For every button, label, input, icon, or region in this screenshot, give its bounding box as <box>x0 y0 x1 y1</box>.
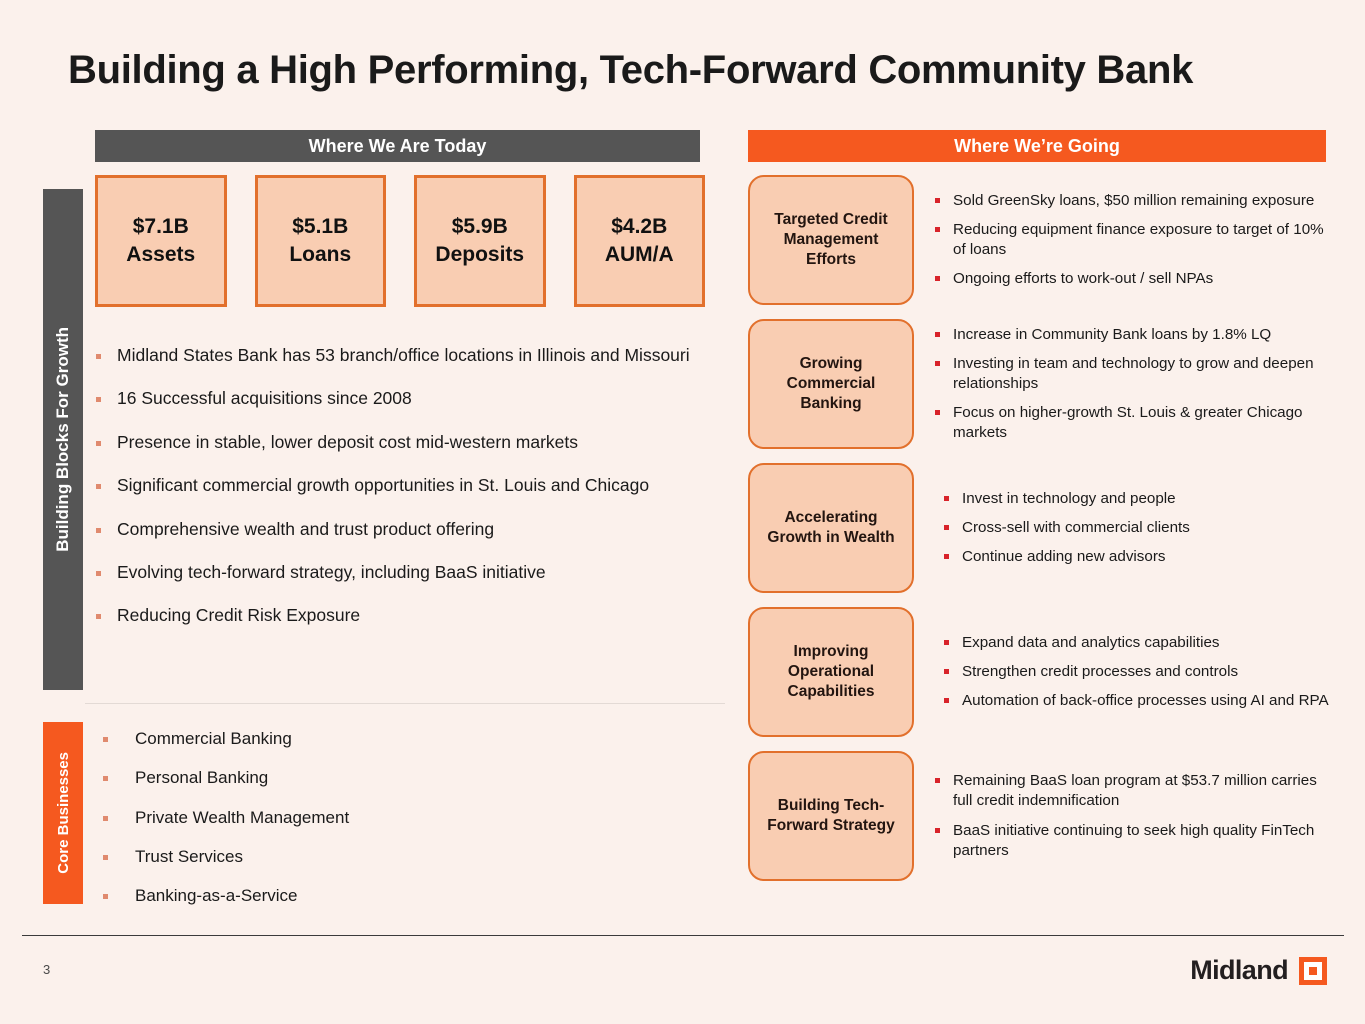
bullet-dot-icon <box>944 525 949 530</box>
list-item-label: Significant commercial growth opportunit… <box>117 475 649 497</box>
metric-value: $7.1B <box>133 213 189 241</box>
bullet-dot-icon <box>103 894 108 899</box>
logo-inner-square <box>1309 967 1317 975</box>
list-item-label: Focus on higher-growth St. Louis & great… <box>953 403 1338 443</box>
list-item: Private Wealth Management <box>103 807 583 828</box>
list-item: Remaining BaaS loan program at $53.7 mil… <box>935 771 1338 811</box>
column-header-where-were-going: Where We’re Going <box>748 130 1326 162</box>
list-item-label: Personal Banking <box>135 767 268 788</box>
list-item: Significant commercial growth opportunit… <box>96 475 736 497</box>
bullet-dot-icon <box>935 198 940 203</box>
list-item-label: Investing in team and technology to grow… <box>953 354 1338 394</box>
metric-label: AUM/A <box>605 241 674 269</box>
list-item: Sold GreenSky loans, $50 million remaini… <box>935 191 1338 211</box>
column-header-where-we-are-today: Where We Are Today <box>95 130 700 162</box>
bullet-dot-icon <box>935 227 940 232</box>
metric-label: Deposits <box>435 241 524 269</box>
left-bullet-list: Midland States Bank has 53 branch/office… <box>96 345 736 649</box>
initiative-bullet-list: Invest in technology and people Cross-se… <box>914 463 1338 593</box>
list-item-label: Commercial Banking <box>135 728 292 749</box>
vertical-tab-building-blocks-for-growth: Building Blocks For Growth <box>43 189 83 690</box>
page-number: 3 <box>43 962 50 977</box>
core-businesses-list: Commercial Banking Personal Banking Priv… <box>103 728 583 924</box>
list-item: Cross-sell with commercial clients <box>944 518 1338 538</box>
list-item-label: Continue adding new advisors <box>962 547 1165 567</box>
list-item: Increase in Community Bank loans by 1.8%… <box>935 325 1338 345</box>
list-item-label: Cross-sell with commercial clients <box>962 518 1190 538</box>
bullet-dot-icon <box>103 855 108 860</box>
list-item-label: Banking-as-a-Service <box>135 885 298 906</box>
list-item: Trust Services <box>103 846 583 867</box>
initiative-row: Targeted Credit Management Efforts Sold … <box>748 175 1338 305</box>
bullet-dot-icon <box>944 669 949 674</box>
initiative-label: Improving Operational Capabilities <box>748 607 914 737</box>
bullet-dot-icon <box>935 828 940 833</box>
list-item: Comprehensive wealth and trust product o… <box>96 519 736 541</box>
list-item: Automation of back-office processes usin… <box>944 691 1338 711</box>
list-item: Personal Banking <box>103 767 583 788</box>
slide-canvas: Building a High Performing, Tech-Forward… <box>0 0 1365 1024</box>
list-item-label: Automation of back-office processes usin… <box>962 691 1329 711</box>
metric-box: $7.1B Assets <box>95 175 227 307</box>
right-initiatives-column: Targeted Credit Management Efforts Sold … <box>748 175 1338 895</box>
initiative-label: Growing Commercial Banking <box>748 319 914 449</box>
bullet-dot-icon <box>935 410 940 415</box>
list-item-label: Presence in stable, lower deposit cost m… <box>117 432 578 454</box>
bullet-dot-icon <box>96 484 101 489</box>
list-item-label: Sold GreenSky loans, $50 million remaini… <box>953 191 1314 211</box>
list-item-label: Expand data and analytics capabilities <box>962 633 1220 653</box>
initiative-row: Building Tech-Forward Strategy Remaining… <box>748 751 1338 881</box>
metric-box: $5.1B Loans <box>255 175 387 307</box>
square-logo-mark-icon <box>1299 957 1327 985</box>
initiative-row: Growing Commercial Banking Increase in C… <box>748 319 1338 449</box>
list-item: Reducing Credit Risk Exposure <box>96 605 736 627</box>
list-item-label: Reducing equipment finance exposure to t… <box>953 220 1338 260</box>
bullet-dot-icon <box>103 776 108 781</box>
section-divider <box>85 703 725 704</box>
midland-logo: Midland <box>1190 955 1327 986</box>
list-item-label: Ongoing efforts to work-out / sell NPAs <box>953 269 1213 289</box>
initiative-row: Improving Operational Capabilities Expan… <box>748 607 1338 737</box>
list-item-label: Invest in technology and people <box>962 489 1176 509</box>
metric-box: $5.9B Deposits <box>414 175 546 307</box>
metric-label: Assets <box>126 241 195 269</box>
vertical-tab-core-businesses: Core Businesses <box>43 722 83 904</box>
list-item: Continue adding new advisors <box>944 547 1338 567</box>
logo-inner-ring <box>1304 962 1322 980</box>
initiative-label: Accelerating Growth in Wealth <box>748 463 914 593</box>
list-item-label: BaaS initiative continuing to seek high … <box>953 821 1338 861</box>
initiative-row: Accelerating Growth in Wealth Invest in … <box>748 463 1338 593</box>
logo-wordmark: Midland <box>1190 955 1288 986</box>
vertical-tab-growth-label: Building Blocks For Growth <box>53 327 73 552</box>
list-item-label: Midland States Bank has 53 branch/office… <box>117 345 690 367</box>
metric-value: $4.2B <box>611 213 667 241</box>
footer-divider <box>22 935 1344 936</box>
metric-label: Loans <box>289 241 351 269</box>
bullet-dot-icon <box>935 332 940 337</box>
list-item: Invest in technology and people <box>944 489 1338 509</box>
list-item: Strengthen credit processes and controls <box>944 662 1338 682</box>
bullet-dot-icon <box>935 778 940 783</box>
initiative-bullet-list: Expand data and analytics capabilities S… <box>914 607 1338 737</box>
bullet-dot-icon <box>935 276 940 281</box>
bullet-dot-icon <box>944 496 949 501</box>
page-title: Building a High Performing, Tech-Forward… <box>68 48 1308 93</box>
metric-box: $4.2B AUM/A <box>574 175 706 307</box>
list-item: Expand data and analytics capabilities <box>944 633 1338 653</box>
list-item-label: Evolving tech-forward strategy, includin… <box>117 562 546 584</box>
initiative-bullet-list: Sold GreenSky loans, $50 million remaini… <box>914 175 1338 305</box>
bullet-dot-icon <box>96 441 101 446</box>
initiative-bullet-list: Remaining BaaS loan program at $53.7 mil… <box>914 751 1338 881</box>
initiative-label: Building Tech-Forward Strategy <box>748 751 914 881</box>
bullet-dot-icon <box>944 554 949 559</box>
list-item-label: Trust Services <box>135 846 243 867</box>
list-item: Banking-as-a-Service <box>103 885 583 906</box>
initiative-label: Targeted Credit Management Efforts <box>748 175 914 305</box>
bullet-dot-icon <box>935 361 940 366</box>
list-item: 16 Successful acquisitions since 2008 <box>96 388 736 410</box>
list-item-label: Increase in Community Bank loans by 1.8%… <box>953 325 1271 345</box>
vertical-tab-core-label: Core Businesses <box>55 752 72 874</box>
bullet-dot-icon <box>96 528 101 533</box>
bullet-dot-icon <box>96 354 101 359</box>
list-item-label: 16 Successful acquisitions since 2008 <box>117 388 412 410</box>
list-item: Investing in team and technology to grow… <box>935 354 1338 394</box>
bullet-dot-icon <box>96 397 101 402</box>
bullet-dot-icon <box>103 816 108 821</box>
list-item-label: Strengthen credit processes and controls <box>962 662 1238 682</box>
list-item: Commercial Banking <box>103 728 583 749</box>
metric-box-group: $7.1B Assets $5.1B Loans $5.9B Deposits … <box>95 175 705 307</box>
list-item-label: Reducing Credit Risk Exposure <box>117 605 360 627</box>
initiative-bullet-list: Increase in Community Bank loans by 1.8%… <box>914 319 1338 449</box>
list-item: Midland States Bank has 53 branch/office… <box>96 345 736 367</box>
bullet-dot-icon <box>944 640 949 645</box>
metric-value: $5.1B <box>292 213 348 241</box>
list-item: Focus on higher-growth St. Louis & great… <box>935 403 1338 443</box>
bullet-dot-icon <box>103 737 108 742</box>
list-item-label: Remaining BaaS loan program at $53.7 mil… <box>953 771 1338 811</box>
list-item: Reducing equipment finance exposure to t… <box>935 220 1338 260</box>
list-item: BaaS initiative continuing to seek high … <box>935 821 1338 861</box>
list-item: Ongoing efforts to work-out / sell NPAs <box>935 269 1338 289</box>
bullet-dot-icon <box>96 614 101 619</box>
list-item: Evolving tech-forward strategy, includin… <box>96 562 736 584</box>
list-item-label: Private Wealth Management <box>135 807 349 828</box>
list-item-label: Comprehensive wealth and trust product o… <box>117 519 494 541</box>
bullet-dot-icon <box>96 571 101 576</box>
bullet-dot-icon <box>944 698 949 703</box>
metric-value: $5.9B <box>452 213 508 241</box>
list-item: Presence in stable, lower deposit cost m… <box>96 432 736 454</box>
